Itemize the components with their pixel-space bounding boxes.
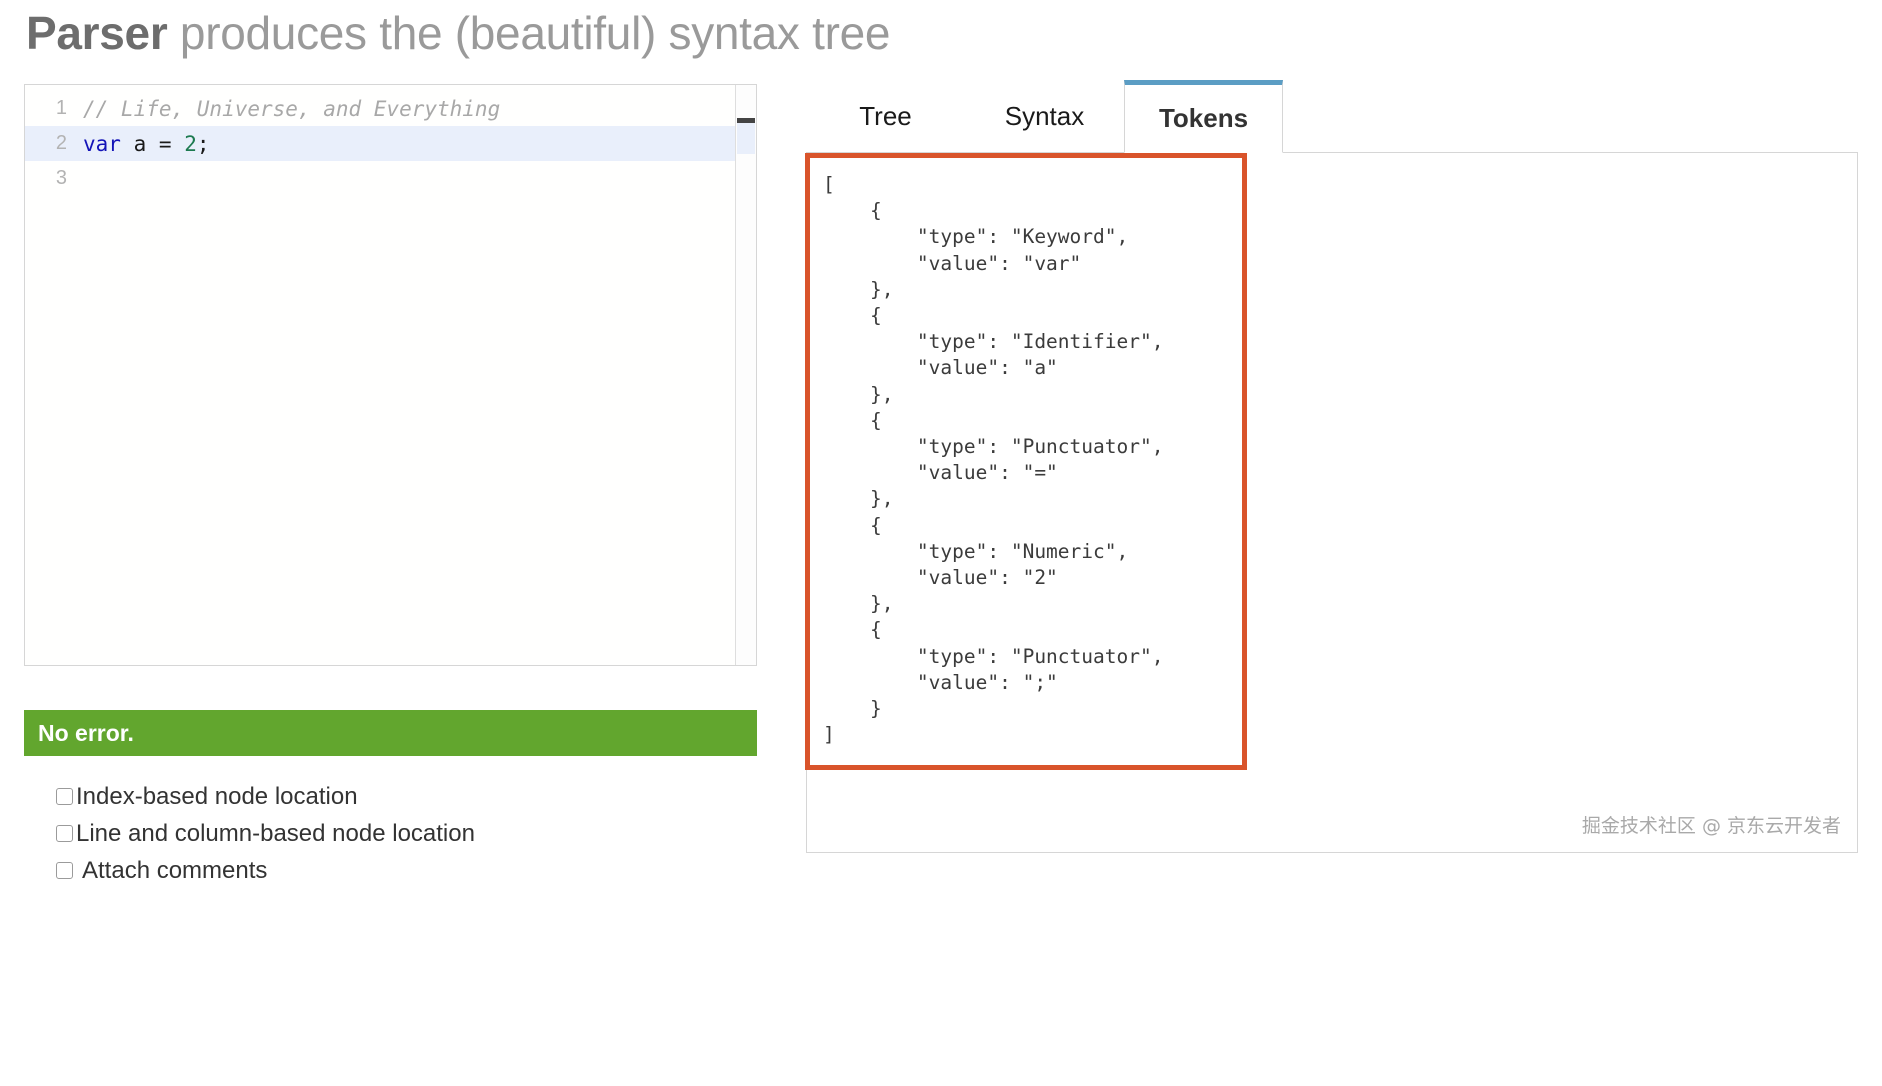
status-message: No error. bbox=[38, 720, 134, 747]
tab-syntax[interactable]: Syntax bbox=[965, 80, 1124, 152]
tab-tree[interactable]: Tree bbox=[806, 80, 965, 152]
semicolon-token: ; bbox=[197, 132, 210, 156]
code-line-1-content: // Life, Universe, and Everything bbox=[81, 97, 500, 121]
code-line-1[interactable]: 1 // Life, Universe, and Everything bbox=[25, 91, 756, 126]
code-editor[interactable]: 1 // Life, Universe, and Everything 2 va… bbox=[24, 84, 757, 666]
page-title-strong: Parser bbox=[26, 7, 167, 59]
tab-label: Syntax bbox=[1005, 101, 1085, 132]
tokens-json-text: [ { "type": "Keyword", "value": "var" },… bbox=[810, 158, 1242, 748]
parser-options: Index-based node location Line and colum… bbox=[24, 778, 757, 889]
code-line-2-content: var a = 2; bbox=[81, 132, 210, 156]
option-label: Index-based node location bbox=[76, 783, 358, 811]
operator-token: = bbox=[146, 132, 184, 156]
watermark: 掘金技术社区 @ 京东云开发者 bbox=[1582, 811, 1841, 838]
editor-scrollbar-highlight bbox=[737, 123, 755, 154]
line-number-1: 1 bbox=[25, 97, 81, 120]
code-line-3[interactable]: 3 bbox=[25, 161, 756, 196]
tab-label: Tree bbox=[859, 101, 912, 132]
space-token bbox=[121, 132, 134, 156]
identifier-token: a bbox=[134, 132, 147, 156]
page-title-rest: produces the (beautiful) syntax tree bbox=[167, 7, 890, 59]
page-title: Parser produces the (beautiful) syntax t… bbox=[26, 6, 890, 60]
comment-token: // Life, Universe, and Everything bbox=[83, 97, 500, 121]
line-number-2: 2 bbox=[25, 132, 81, 155]
tab-label: Tokens bbox=[1159, 103, 1248, 134]
tokens-json-highlight-box: [ { "type": "Keyword", "value": "var" },… bbox=[805, 153, 1247, 770]
option-line-column-based-node-location[interactable]: Line and column-based node location bbox=[24, 815, 757, 852]
checkbox-icon[interactable] bbox=[56, 862, 73, 879]
keyword-token: var bbox=[83, 132, 121, 156]
checkbox-icon[interactable] bbox=[56, 825, 73, 842]
line-number-3: 3 bbox=[25, 167, 81, 190]
option-label: Line and column-based node location bbox=[76, 820, 475, 848]
option-attach-comments[interactable]: Attach comments bbox=[24, 852, 757, 889]
option-label: Attach comments bbox=[82, 857, 267, 885]
tab-bar: Tree Syntax Tokens bbox=[806, 80, 1858, 153]
tab-tokens[interactable]: Tokens bbox=[1124, 80, 1283, 153]
right-panel: Tree Syntax Tokens [ { "type": "Keyword"… bbox=[806, 80, 1858, 853]
numeric-token: 2 bbox=[184, 132, 197, 156]
left-panel: 1 // Life, Universe, and Everything 2 va… bbox=[24, 84, 757, 889]
checkbox-icon[interactable] bbox=[56, 788, 73, 805]
editor-scrollbar[interactable] bbox=[735, 85, 756, 665]
tokens-output-panel: [ { "type": "Keyword", "value": "var" },… bbox=[806, 153, 1858, 853]
code-line-2[interactable]: 2 var a = 2; bbox=[25, 126, 756, 161]
status-bar: No error. bbox=[24, 710, 757, 756]
code-editor-lines: 1 // Life, Universe, and Everything 2 va… bbox=[25, 91, 756, 196]
editor-scrollbar-thumb[interactable] bbox=[737, 118, 755, 123]
option-index-based-node-location[interactable]: Index-based node location bbox=[24, 778, 757, 815]
